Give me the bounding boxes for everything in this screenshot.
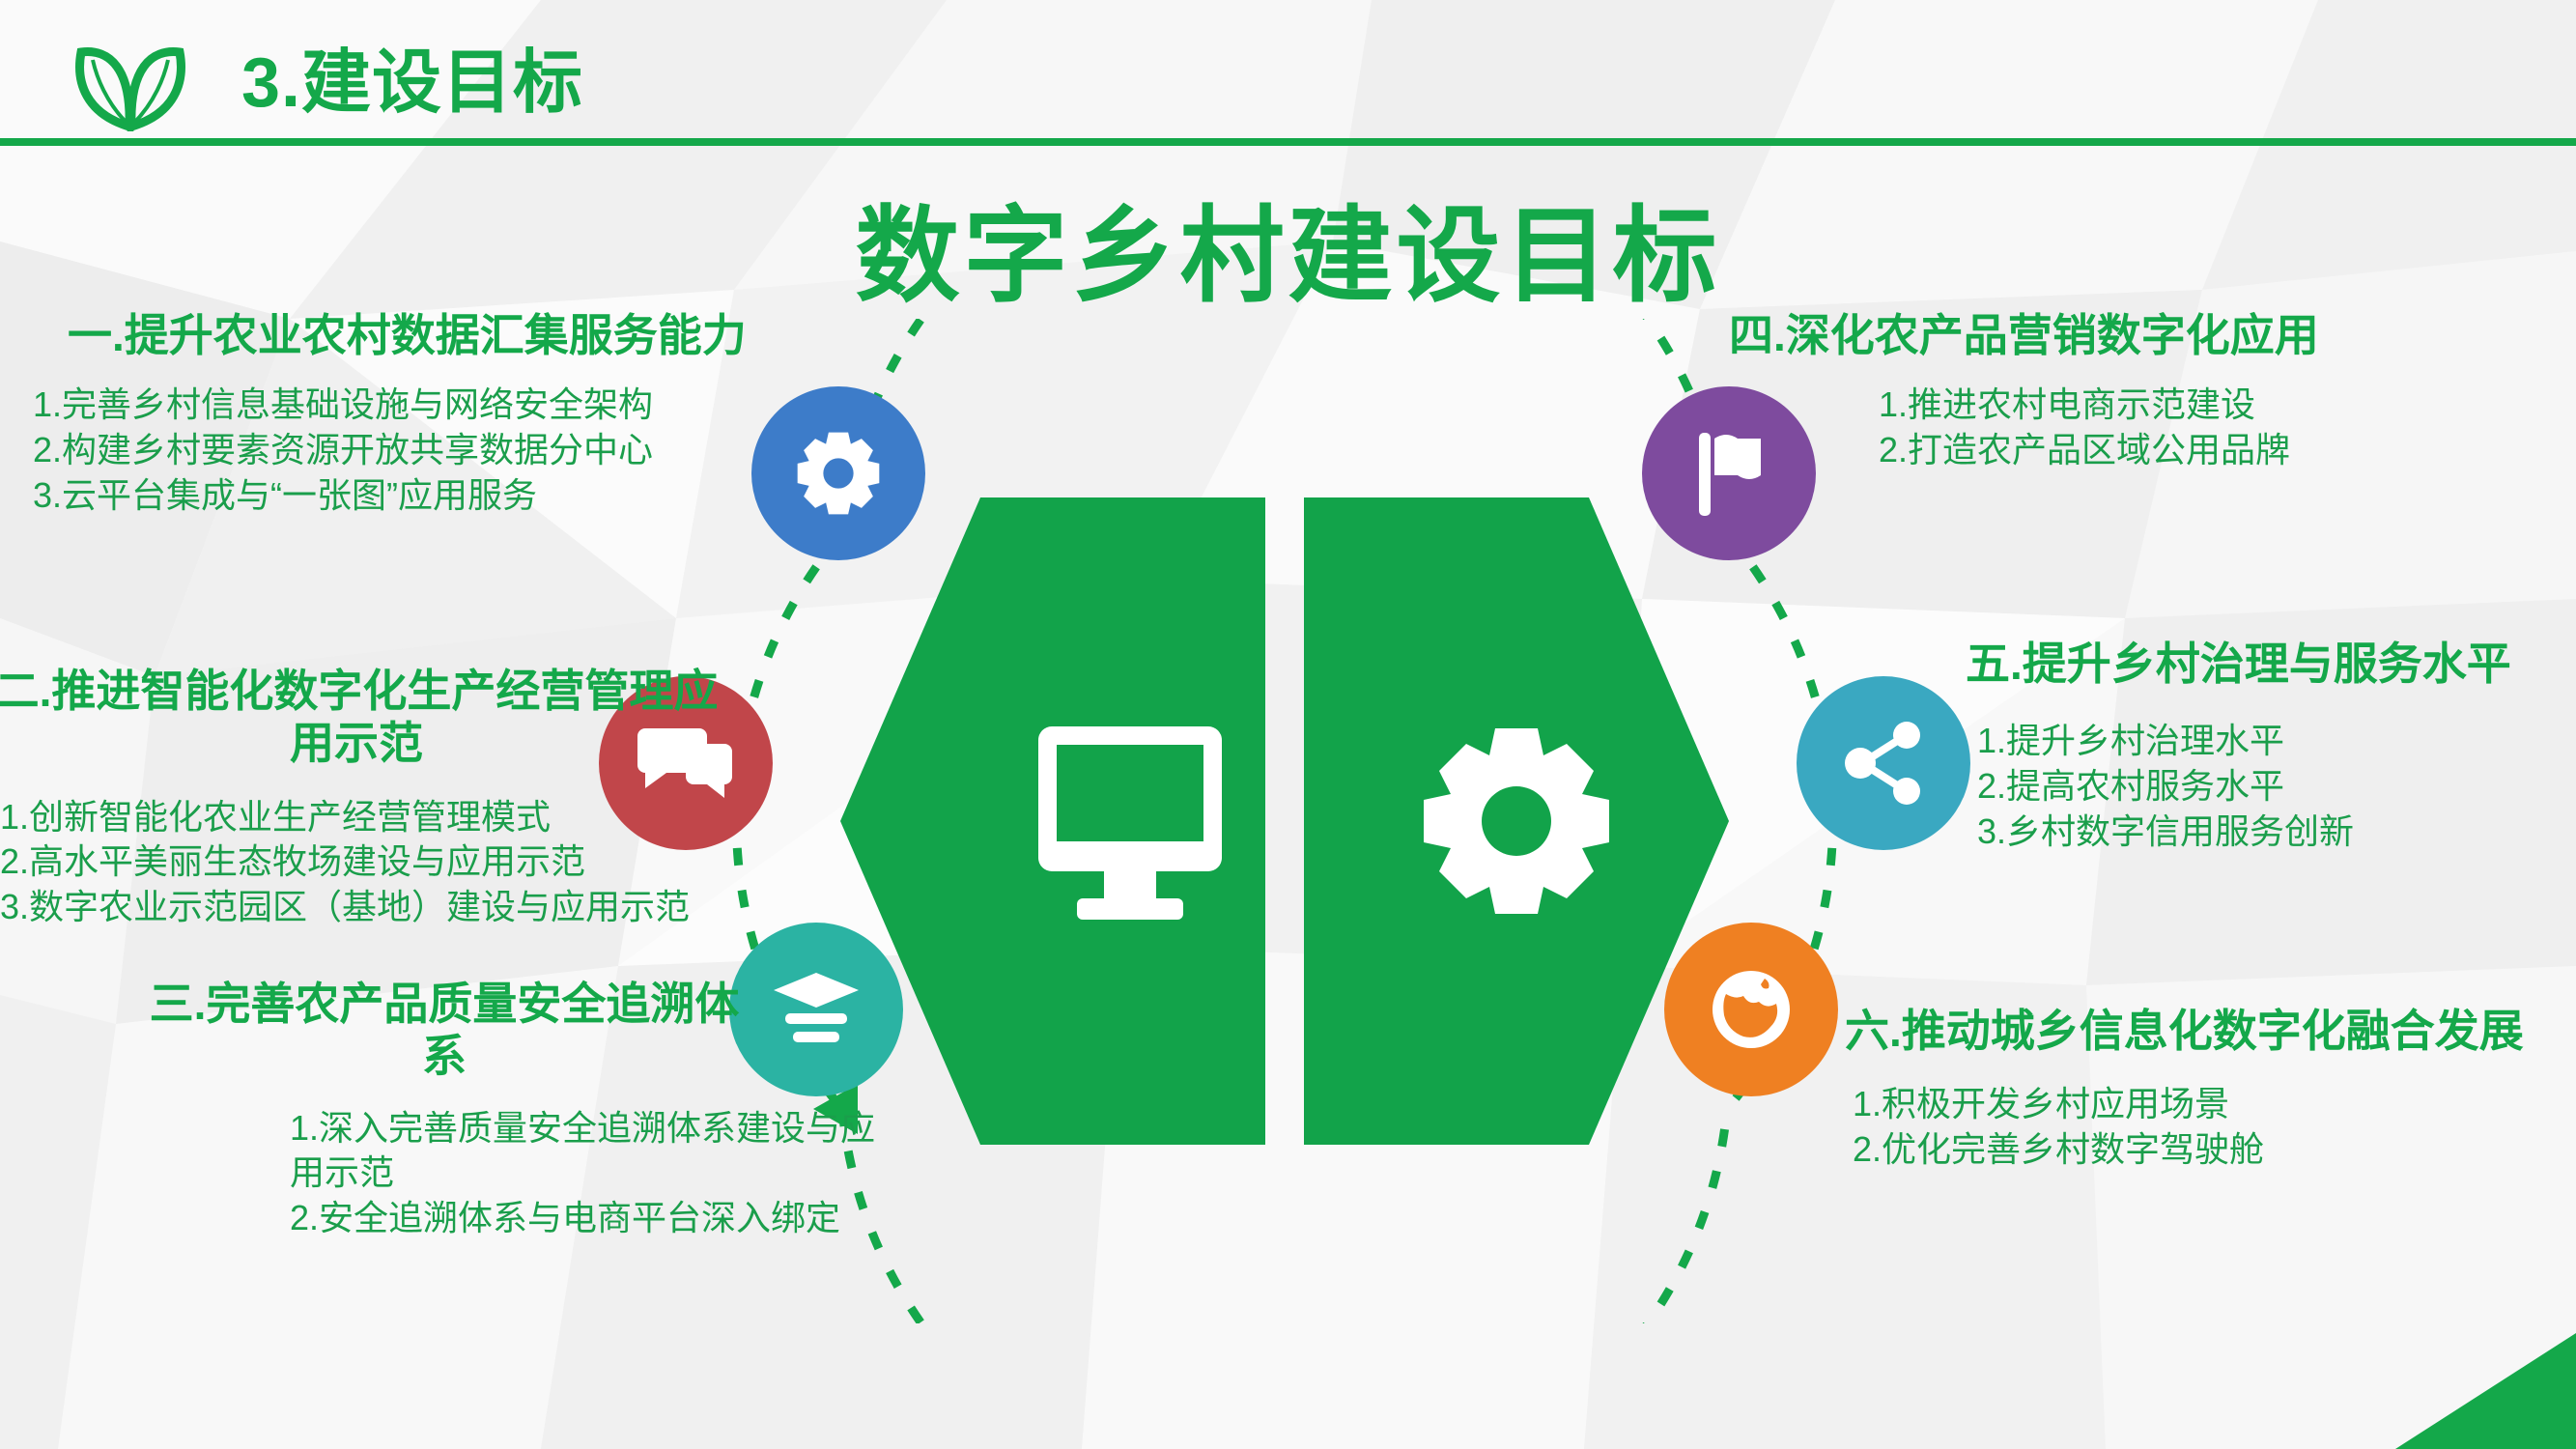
list-item: 1.提升乡村治理水平 [1977,719,2574,764]
section-5: 五.提升乡村治理与服务水平 1.提升乡村治理水平 2.提高农村服务水平 3.乡村… [1966,638,2574,855]
page-title: 3.建设目标 [241,25,583,127]
section-6-heading: 六.推动城乡信息化数字化融合发展 [1845,1005,2576,1057]
leaf-logo-icon [68,27,193,131]
section-4: 四.深化农产品营销数字化应用 1.推进农村电商示范建设 2.打造农产品区域公用品… [1729,309,2569,473]
list-item: 3.乡村数字信用服务创新 [1977,810,2574,855]
section-5-heading: 五.提升乡村治理与服务水平 [1966,638,2574,690]
list-item: 2.打造农产品区域公用品牌 [1879,428,2569,473]
list-item: 1.完善乡村信息基础设施与网络安全架构 [33,383,879,428]
section-1: 一.提升农业农村数据汇集服务能力 1.完善乡村信息基础设施与网络安全架构 2.构… [10,309,879,519]
slide-canvas: 3.建设目标 数字乡村建设目标 [0,0,2576,1449]
section-6-items: 1.积极开发乡村应用场景 2.优化完善乡村数字驾驶舱 [1845,1082,2576,1173]
list-item: 1.积极开发乡村应用场景 [1853,1082,2576,1127]
list-item: 2.高水平美丽生态牧场建设与应用示范 [0,839,719,885]
section-1-items: 1.完善乡村信息基础设施与网络安全架构 2.构建乡村要素资源开放共享数据分中心 … [10,383,879,518]
list-item: 1.创新智能化农业生产经营管理模式 [0,795,719,840]
section-4-items: 1.推进农村电商示范建设 2.打造农产品区域公用品牌 [1729,383,2569,473]
section-3-items: 1.深入完善质量安全追溯体系建设与应用示范 2.安全追溯体系与电商平台深入绑定 [145,1106,898,1241]
node-globe-orange[interactable] [1664,923,1838,1096]
main-title: 数字乡村建设目标 [0,172,2576,323]
list-item: 1.推进农村电商示范建设 [1879,383,2569,428]
section-3: 三.完善农产品质量安全追溯体系 1.深入完善质量安全追溯体系建设与应用示范 2.… [145,978,898,1241]
globe-icon [1707,965,1796,1054]
section-6: 六.推动城乡信息化数字化融合发展 1.积极开发乡村应用场景 2.优化完善乡村数字… [1845,1005,2576,1173]
list-item: 2.构建乡村要素资源开放共享数据分中心 [33,428,879,473]
header-divider [0,138,2576,146]
section-2-items: 1.创新智能化农业生产经营管理模式 2.高水平美丽生态牧场建设与应用示范 3.数… [0,795,719,930]
list-item: 2.提高农村服务水平 [1977,764,2574,810]
section-3-heading: 三.完善农产品质量安全追溯体系 [145,978,898,1083]
section-4-heading: 四.深化农产品营销数字化应用 [1729,309,2569,361]
list-item: 3.数字农业示范园区（基地）建设与应用示范 [0,885,719,930]
section-5-items: 1.提升乡村治理水平 2.提高农村服务水平 3.乡村数字信用服务创新 [1966,719,2574,854]
list-item: 2.优化完善乡村数字驾驶舱 [1853,1127,2576,1173]
list-item: 3.云平台集成与“一张图”应用服务 [33,473,879,519]
slide-header: 3.建设目标 [0,0,2576,147]
section-2: 二.推进智能化数字化生产经营管理应用示范 1.创新智能化农业生产经营管理模式 2… [0,665,719,930]
section-2-heading: 二.推进智能化数字化生产经营管理应用示范 [0,665,719,770]
list-item: 1.深入完善质量安全追溯体系建设与应用示范 [290,1106,898,1197]
node-share-teal[interactable] [1797,676,1970,850]
list-item: 2.安全追溯体系与电商平台深入绑定 [290,1196,898,1241]
section-1-heading: 一.提升农业农村数据汇集服务能力 [10,309,879,361]
share-nodes-icon [1839,719,1928,808]
